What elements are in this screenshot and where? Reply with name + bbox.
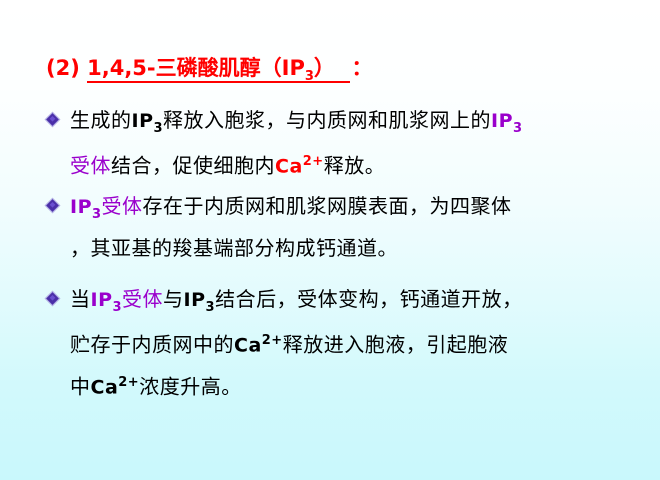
- text-run: 3: [206, 300, 216, 315]
- slide-canvas: (2) 1,4,5-三磷酸肌醇（IP3） ： 生成的IP3释放入胞浆，与内质网和…: [0, 0, 660, 480]
- text-run: 释放。: [324, 154, 386, 178]
- title-abbrev: IP: [282, 56, 305, 80]
- text-run: 当: [70, 287, 91, 311]
- text-run: Ca: [275, 156, 303, 178]
- text-run: Ca: [91, 377, 119, 399]
- text-run: IP: [70, 196, 92, 218]
- bullet-text-line: 生成的IP3释放入胞浆，与内质网和肌浆网上的IP3: [46, 99, 646, 141]
- text-run: 受体: [122, 287, 163, 311]
- bullet-line-content: 贮存于内质网中的Ca2+释放进入胞液，引起胞液: [46, 320, 508, 367]
- text-run: 存在于内质网和肌浆网膜表面，为四聚体: [143, 194, 512, 218]
- text-run: 受体: [70, 154, 111, 178]
- text-run: IP: [132, 110, 154, 132]
- text-run: 释放入胞浆，与内质网和肌浆网上的: [163, 108, 491, 132]
- text-run: IP: [91, 289, 113, 311]
- text-run: IP: [491, 110, 513, 132]
- title-compound-name: 三磷酸肌醇: [156, 55, 261, 80]
- title-abbrev-subscript: 3: [305, 69, 314, 84]
- text-run: 2+: [303, 154, 324, 169]
- bullet-line-content: 受体结合，促使细胞内Ca2+释放。: [46, 141, 385, 188]
- slide-title: (2) 1,4,5-三磷酸肌醇（IP3） ：: [46, 52, 373, 84]
- bullet-text-line: 中Ca2+浓度升高。: [46, 362, 646, 404]
- bullet-item: IP3受体存在于内质网和肌浆网膜表面，为四聚体，其亚基的羧基端部分构成钙通道。: [46, 185, 646, 269]
- text-run: 贮存于内质网中的: [70, 333, 234, 357]
- bullet-text-line: 贮存于内质网中的Ca2+释放进入胞液，引起胞液: [46, 320, 646, 362]
- text-run: 中: [70, 375, 91, 399]
- text-run: 浓度升高。: [139, 375, 242, 399]
- text-run: 3: [154, 121, 164, 136]
- title-colon: ：: [350, 55, 373, 80]
- text-run: Ca: [234, 335, 262, 357]
- text-run: IP: [184, 289, 206, 311]
- text-run: 与: [163, 287, 184, 311]
- text-run: 3: [513, 121, 523, 136]
- text-run: 2+: [118, 375, 139, 390]
- text-run: 结合，促使细胞内: [111, 154, 275, 178]
- title-number: 1,4,5-: [87, 56, 156, 80]
- bullet-line-content: ，其亚基的羧基端部分构成钙通道。: [46, 227, 398, 269]
- title-paren-open: （: [261, 55, 282, 80]
- title-prefix: (2): [46, 56, 80, 80]
- text-run: 结合后，受体变构，钙通道开放，: [215, 287, 523, 311]
- text-run: 受体: [102, 194, 143, 218]
- bullet-text-line: 当IP3受体与IP3结合后，受体变构，钙通道开放，: [46, 278, 646, 320]
- text-run: ，其亚基的羧基端部分构成钙通道。: [70, 236, 398, 260]
- bullet-line-content: 中Ca2+浓度升高。: [46, 362, 242, 409]
- bullet-item: 生成的IP3释放入胞浆，与内质网和肌浆网上的IP3受体结合，促使细胞内Ca2+释…: [46, 99, 646, 183]
- text-run: 2+: [262, 333, 283, 348]
- title-paren-close: ）: [314, 55, 335, 80]
- bullet-item: 当IP3受体与IP3结合后，受体变构，钙通道开放，贮存于内质网中的Ca2+释放进…: [46, 278, 646, 404]
- bullet-text-line: ，其亚基的羧基端部分构成钙通道。: [46, 227, 646, 269]
- text-run: 释放进入胞液，引起胞液: [283, 333, 509, 357]
- bullet-text-line: 受体结合，促使细胞内Ca2+释放。: [46, 141, 646, 183]
- text-run: 3: [92, 207, 102, 222]
- text-run: 生成的: [70, 108, 132, 132]
- text-run: 3: [113, 300, 123, 315]
- bullet-text-line: IP3受体存在于内质网和肌浆网膜表面，为四聚体: [46, 185, 646, 227]
- title-underlined-part: 1,4,5-三磷酸肌醇（IP3）: [87, 55, 349, 83]
